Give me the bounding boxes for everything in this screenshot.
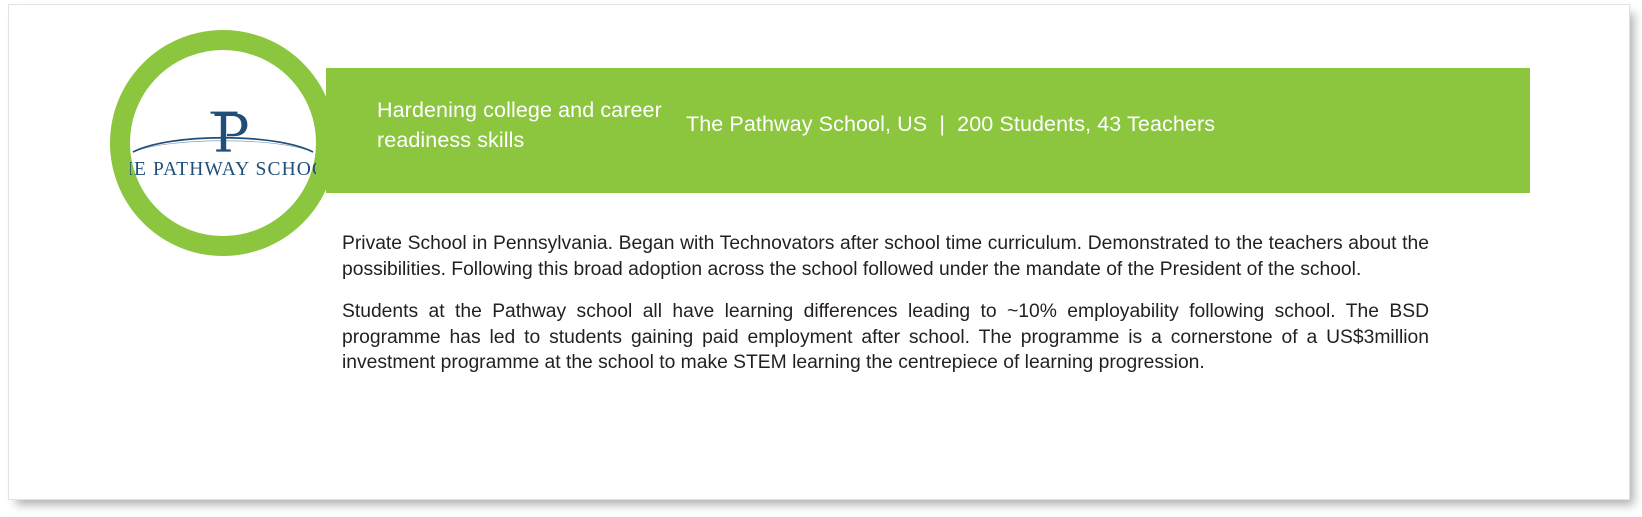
logo-badge: THE PATHWAY SCHOOL [110, 30, 336, 256]
paragraph-1: Private School in Pennsylvania. Began wi… [342, 231, 1429, 282]
paragraph-2: Students at the Pathway school all have … [342, 299, 1429, 376]
header-tagline: Hardening college and career readiness s… [377, 95, 667, 155]
header-banner: Hardening college and career readiness s… [326, 68, 1530, 193]
header-meta: The Pathway School, US | 200 Students, 4… [686, 109, 1215, 139]
logo-wordmark: THE PATHWAY SCHOOL [130, 159, 316, 180]
slide-canvas: Hardening college and career readiness s… [8, 4, 1630, 500]
paragraph-2-tail: at the school to make STEM learning the … [545, 352, 1205, 373]
pathway-school-logo-icon: THE PATHWAY SCHOOL [130, 105, 316, 185]
body-copy: Private School in Pennsylvania. Began wi… [342, 231, 1429, 376]
